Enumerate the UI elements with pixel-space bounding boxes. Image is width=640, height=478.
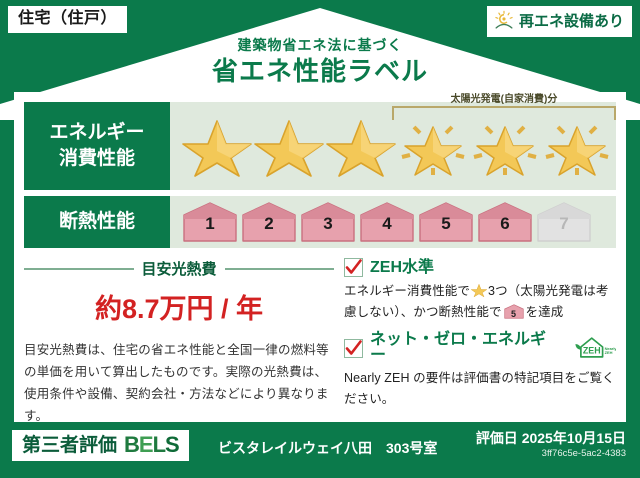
inline-house-badge: 5 (504, 303, 524, 320)
utility-cost-section: 目安光熱費 約8.7万円 / 年 目安光熱費は、住宅の省エネ性能と全国一律の燃料… (24, 256, 334, 412)
sun-solar-icon (493, 10, 515, 32)
utility-cost-note: 目安光熱費は、住宅の省エネ性能と全国一律の燃料等の単価を用いて算出したものです。… (24, 340, 334, 428)
star-filled-1 (182, 113, 252, 179)
insulation-level-number: 5 (418, 215, 474, 232)
utility-cost-heading: 目安光熱費 (24, 258, 334, 279)
evaluation-date: 評価日 2025年10月15日 (476, 430, 626, 447)
insulation-level-scale: 1 2 3 (182, 201, 592, 243)
zeh-body-part3: を達成 (526, 305, 564, 319)
net-zero-heading: ネット・ゼロ・エネルギー ZEH Nearly ZEH (344, 332, 616, 364)
insulation-house-5: 5 (418, 201, 474, 243)
svg-text:ZEH: ZEH (604, 350, 612, 355)
solar-bracket-caption: 太陽光発電(自家消費)分 (392, 90, 616, 105)
star-solar-5 (470, 113, 540, 179)
rule-left (24, 268, 134, 270)
energy-performance-row: エネルギー 消費性能 太陽光発電(自家消費)分 (24, 102, 616, 190)
utility-cost-value: 約8.7万円 / 年 (24, 287, 334, 326)
inline-star-icon (471, 282, 487, 298)
renewable-badge-label: 再エネ設備あり (519, 14, 624, 29)
insulation-performance-value: 1 2 3 (170, 196, 616, 248)
star-solar-4 (398, 113, 468, 179)
insulation-performance-row: 断熱性能 1 2 (24, 196, 616, 248)
star-filled-3 (326, 113, 396, 179)
svg-text:ZEH: ZEH (582, 346, 600, 356)
insulation-level-number: 6 (477, 215, 533, 232)
house-type-badge: 住宅（住戸） (8, 6, 127, 33)
utility-cost-title: 目安光熱費 (142, 258, 217, 279)
insulation-house-1: 1 (182, 201, 238, 243)
zeh-level-body: エネルギー消費性能で3つ（太陽光発電は考慮しない）、かつ断熱性能で5を達成 (344, 281, 616, 322)
property-name: ビスタレイルウェイ八田 303号室 (218, 438, 437, 458)
insulation-house-2: 2 (241, 201, 297, 243)
energy-label-root: 住宅（住戸） 再エネ設備あり 建築物省エネ法に基づく 省エネ性能ラベル エネルギ… (0, 0, 640, 478)
zeh-level-checkbox (344, 258, 363, 277)
title-subtitle: 建築物省エネ法に基づく (0, 38, 640, 53)
footer-bar: 第三者評価 BELS ビスタレイルウェイ八田 303号室 評価日 2025年10… (0, 422, 640, 478)
insulation-house-4: 4 (359, 201, 415, 243)
zeh-level-heading: ZEH水準 (344, 258, 616, 277)
zeh-logo-icon: ZEH Nearly ZEH (571, 335, 616, 361)
inline-house-level: 5 (504, 307, 524, 322)
insulation-level-number: 4 (359, 215, 415, 232)
star-filled-2 (254, 113, 324, 179)
detail-columns: 目安光熱費 約8.7万円 / 年 目安光熱費は、住宅の省エネ性能と全国一律の燃料… (24, 256, 616, 412)
insulation-level-number: 1 (182, 215, 238, 232)
insulation-level-number: 7 (536, 215, 592, 232)
zeh-level-title: ZEH水準 (370, 260, 434, 276)
insulation-performance-label: 断熱性能 (24, 196, 170, 248)
bels-badge: 第三者評価 BELS (12, 430, 189, 461)
net-zero-checkbox (344, 339, 363, 358)
certification-section: ZEH水準 エネルギー消費性能で3つ（太陽光発電は考慮しない）、かつ断熱性能で5… (334, 256, 616, 412)
insulation-house-6: 6 (477, 201, 533, 243)
energy-label-line1: エネルギー (49, 120, 144, 146)
title-block: 建築物省エネ法に基づく 省エネ性能ラベル (0, 38, 640, 88)
insulation-house-7: 7 (536, 201, 592, 243)
page-title: 省エネ性能ラベル (0, 55, 640, 88)
net-zero-title: ネット・ゼロ・エネルギー (370, 332, 560, 364)
evaluation-id: 3ff76c5e-5ac2-4383 (476, 448, 626, 459)
insulation-house-3: 3 (300, 201, 356, 243)
third-party-eval-label: 第三者評価 (22, 436, 117, 455)
insulation-level-number: 2 (241, 215, 297, 232)
bels-logo: BELS (124, 434, 179, 456)
energy-star-rating (182, 113, 612, 179)
net-zero-body: Nearly ZEH の要件は評価書の特記項目をご覧ください。 (344, 368, 616, 409)
zeh-body-part1: エネルギー消費性能で (344, 284, 470, 298)
label-panel: エネルギー 消費性能 太陽光発電(自家消費)分 (14, 92, 626, 422)
rule-right (225, 268, 335, 270)
star-solar-6 (542, 113, 612, 179)
energy-performance-label: エネルギー 消費性能 (24, 102, 170, 190)
energy-label-line2: 消費性能 (59, 146, 135, 172)
energy-performance-value: 太陽光発電(自家消費)分 (170, 102, 616, 190)
evaluation-info: 評価日 2025年10月15日 3ff76c5e-5ac2-4383 (476, 430, 626, 459)
insulation-level-number: 3 (300, 215, 356, 232)
renewable-equipment-badge: 再エネ設備あり (487, 6, 632, 37)
